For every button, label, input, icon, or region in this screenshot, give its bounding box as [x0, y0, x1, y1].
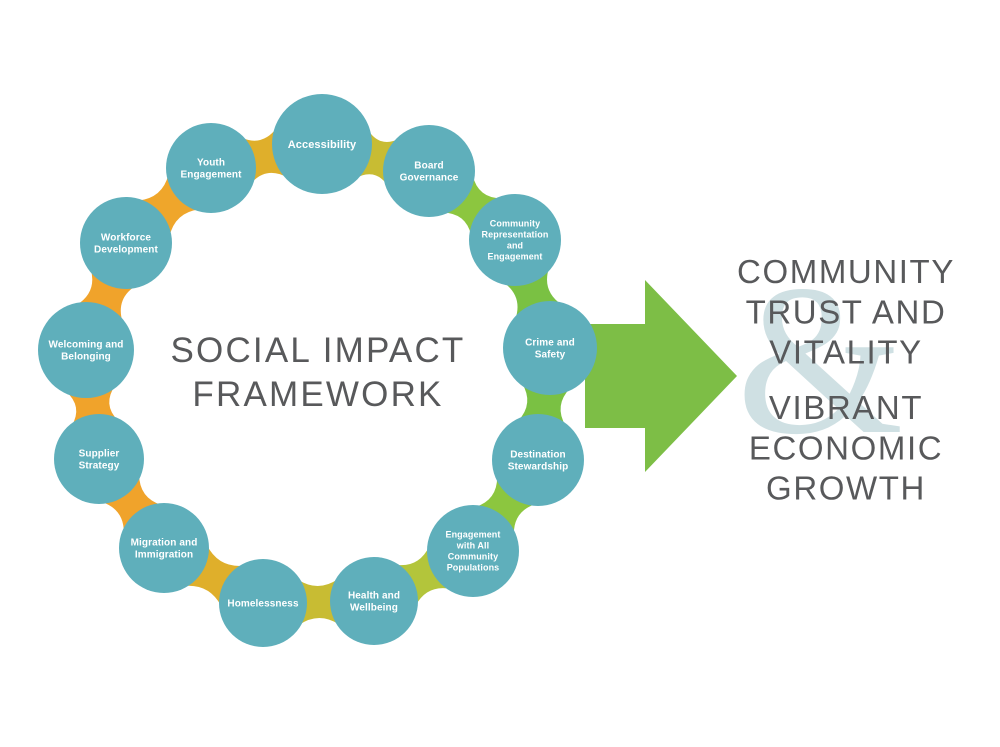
node-label-line: Welcoming and — [48, 339, 123, 350]
outcome-line: COMMUNITY — [737, 253, 955, 290]
node-migration-and-immigration[interactable]: Migration andImmigration — [119, 503, 209, 593]
node-label-line: Community — [448, 552, 498, 562]
framework-title-line: SOCIAL IMPACT — [170, 331, 465, 370]
node-health-and-wellbeing[interactable]: Health andWellbeing — [330, 557, 418, 645]
node-label-line: Governance — [400, 173, 459, 184]
node-label-line: Health and — [348, 590, 400, 601]
node-board-governance[interactable]: BoardGovernance — [383, 125, 475, 217]
node-label-accessibility: Accessibility — [288, 139, 357, 151]
node-label-line: Accessibility — [288, 139, 357, 151]
outcome-line: GROWTH — [766, 470, 926, 507]
node-supplier-strategy[interactable]: SupplierStrategy — [54, 414, 144, 504]
outcome-line: ECONOMIC — [749, 429, 943, 466]
node-label-line: Strategy — [79, 461, 120, 472]
node-crime-and-safety[interactable]: Crime andSafety — [503, 301, 597, 395]
node-label-line: Immigration — [135, 550, 193, 561]
node-label-line: Workforce — [101, 232, 152, 243]
center-title-layer: SOCIAL IMPACTFRAMEWORK — [170, 331, 465, 414]
node-label-line: Belonging — [61, 352, 111, 363]
node-label-line: Stewardship — [508, 462, 569, 473]
nodes-layer: AccessibilityBoardGovernanceCommunityRep… — [38, 94, 597, 647]
node-community-representation[interactable]: CommunityRepresentationandEngagement — [469, 194, 561, 286]
outcome-block_1: COMMUNITYTRUST ANDVITALITY — [737, 253, 955, 371]
node-youth-engagement[interactable]: YouthEngagement — [166, 123, 256, 213]
node-label-line: Community — [490, 219, 540, 229]
leads-to-arrow-icon — [585, 280, 737, 472]
framework-title: SOCIAL IMPACTFRAMEWORK — [170, 331, 465, 414]
infographic-canvas: AccessibilityBoardGovernanceCommunityRep… — [0, 0, 1000, 747]
node-label-line: Youth — [197, 157, 225, 168]
node-label-line: Populations — [447, 563, 500, 573]
node-welcoming-and-belonging[interactable]: Welcoming andBelonging — [38, 302, 134, 398]
node-homelessness[interactable]: Homelessness — [219, 559, 307, 647]
node-label-homelessness: Homelessness — [227, 599, 299, 610]
node-label-line: Supplier — [79, 448, 120, 459]
node-label-health-and-wellbeing: Health andWellbeing — [348, 590, 400, 613]
node-label-migration-and-immigration: Migration andImmigration — [131, 537, 198, 560]
node-label-line: Wellbeing — [350, 603, 398, 614]
outcome-line: VITALITY — [769, 334, 922, 371]
outcome-block_2: VIBRANTECONOMICGROWTH — [749, 389, 943, 507]
social-impact-framework-diagram: AccessibilityBoardGovernanceCommunityRep… — [0, 0, 1000, 747]
node-destination-stewardship[interactable]: DestinationStewardship — [492, 414, 584, 506]
outcome-line: VIBRANT — [769, 389, 923, 426]
node-label-line: Safety — [535, 350, 566, 361]
node-label-supplier-strategy: SupplierStrategy — [79, 448, 120, 471]
node-label-line: Engagement — [180, 170, 242, 181]
node-label-line: Homelessness — [227, 599, 299, 610]
node-label-line: Representation — [482, 230, 549, 240]
outcome-text-layer: &COMMUNITYTRUST ANDVITALITYVIBRANTECONOM… — [736, 240, 955, 507]
node-label-line: and — [507, 241, 523, 251]
node-label-line: Engagement — [487, 252, 542, 262]
node-label-line: Development — [94, 245, 158, 256]
framework-title-line: FRAMEWORK — [192, 375, 443, 414]
node-label-line: Destination — [510, 449, 566, 460]
outcome-line: TRUST AND — [746, 293, 947, 330]
node-label-engagement-all-community: Engagementwith AllCommunityPopulations — [445, 530, 500, 573]
node-accessibility[interactable]: Accessibility — [272, 94, 372, 194]
node-label-line: Engagement — [445, 530, 500, 540]
node-label-line: with All — [456, 541, 489, 551]
node-label-line: Board — [414, 160, 443, 171]
node-label-line: Migration and — [131, 537, 198, 548]
arrow-layer — [585, 280, 737, 472]
node-workforce-development[interactable]: WorkforceDevelopment — [80, 197, 172, 289]
node-label-workforce-development: WorkforceDevelopment — [94, 232, 158, 255]
node-engagement-all-community[interactable]: Engagementwith AllCommunityPopulations — [427, 505, 519, 597]
node-label-line: Crime and — [525, 337, 575, 348]
node-label-destination-stewardship: DestinationStewardship — [508, 449, 569, 472]
